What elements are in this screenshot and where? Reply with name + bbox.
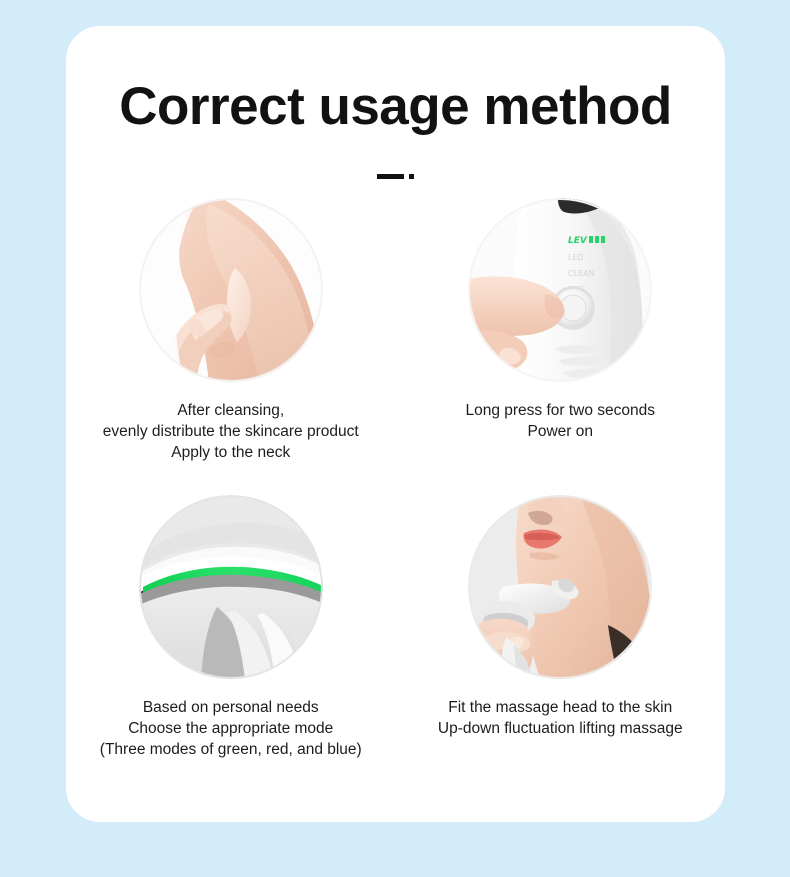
page-title: Correct usage method	[66, 78, 725, 135]
step-4-photo	[468, 495, 652, 679]
content-card: Correct usage method	[66, 26, 725, 822]
step-card-3: Based on personal needs Choose the appro…	[66, 495, 396, 760]
device-head-green-led-strip-icon	[139, 495, 323, 679]
steps-grid: After cleansing, evenly distribute the s…	[66, 198, 725, 760]
hand-applying-skincare-to-neck-icon	[139, 198, 323, 382]
person-massaging-neck-with-device-icon	[468, 495, 652, 679]
step-2-photo: LEV LED CLEAN EMS HOT	[468, 198, 652, 382]
step-4-caption: Fit the massage head to the skin Up-down…	[438, 697, 683, 739]
page-root: Correct usage method	[0, 0, 790, 877]
svg-text:LED: LED	[568, 253, 584, 262]
divider-bar-icon	[377, 174, 404, 179]
step-card-1: After cleansing, evenly distribute the s…	[66, 198, 396, 463]
step-3-photo	[139, 495, 323, 679]
step-3-caption: Based on personal needs Choose the appro…	[100, 697, 362, 760]
svg-text:CLEAN: CLEAN	[568, 269, 595, 278]
step-1-caption: After cleansing, evenly distribute the s…	[103, 400, 359, 463]
divider-dot-icon	[409, 174, 414, 179]
step-card-2: LEV LED CLEAN EMS HOT	[396, 198, 726, 463]
svg-text:LEV: LEV	[568, 236, 588, 246]
step-2-caption: Long press for two seconds Power on	[465, 400, 655, 442]
step-card-4: Fit the massage head to the skin Up-down…	[396, 495, 726, 760]
step-1-photo	[139, 198, 323, 382]
steps-row-top: After cleansing, evenly distribute the s…	[66, 198, 725, 463]
steps-row-bottom: Based on personal needs Choose the appro…	[66, 495, 725, 760]
finger-pressing-power-button-icon: LEV LED CLEAN EMS HOT	[468, 198, 652, 382]
title-divider	[66, 167, 725, 185]
